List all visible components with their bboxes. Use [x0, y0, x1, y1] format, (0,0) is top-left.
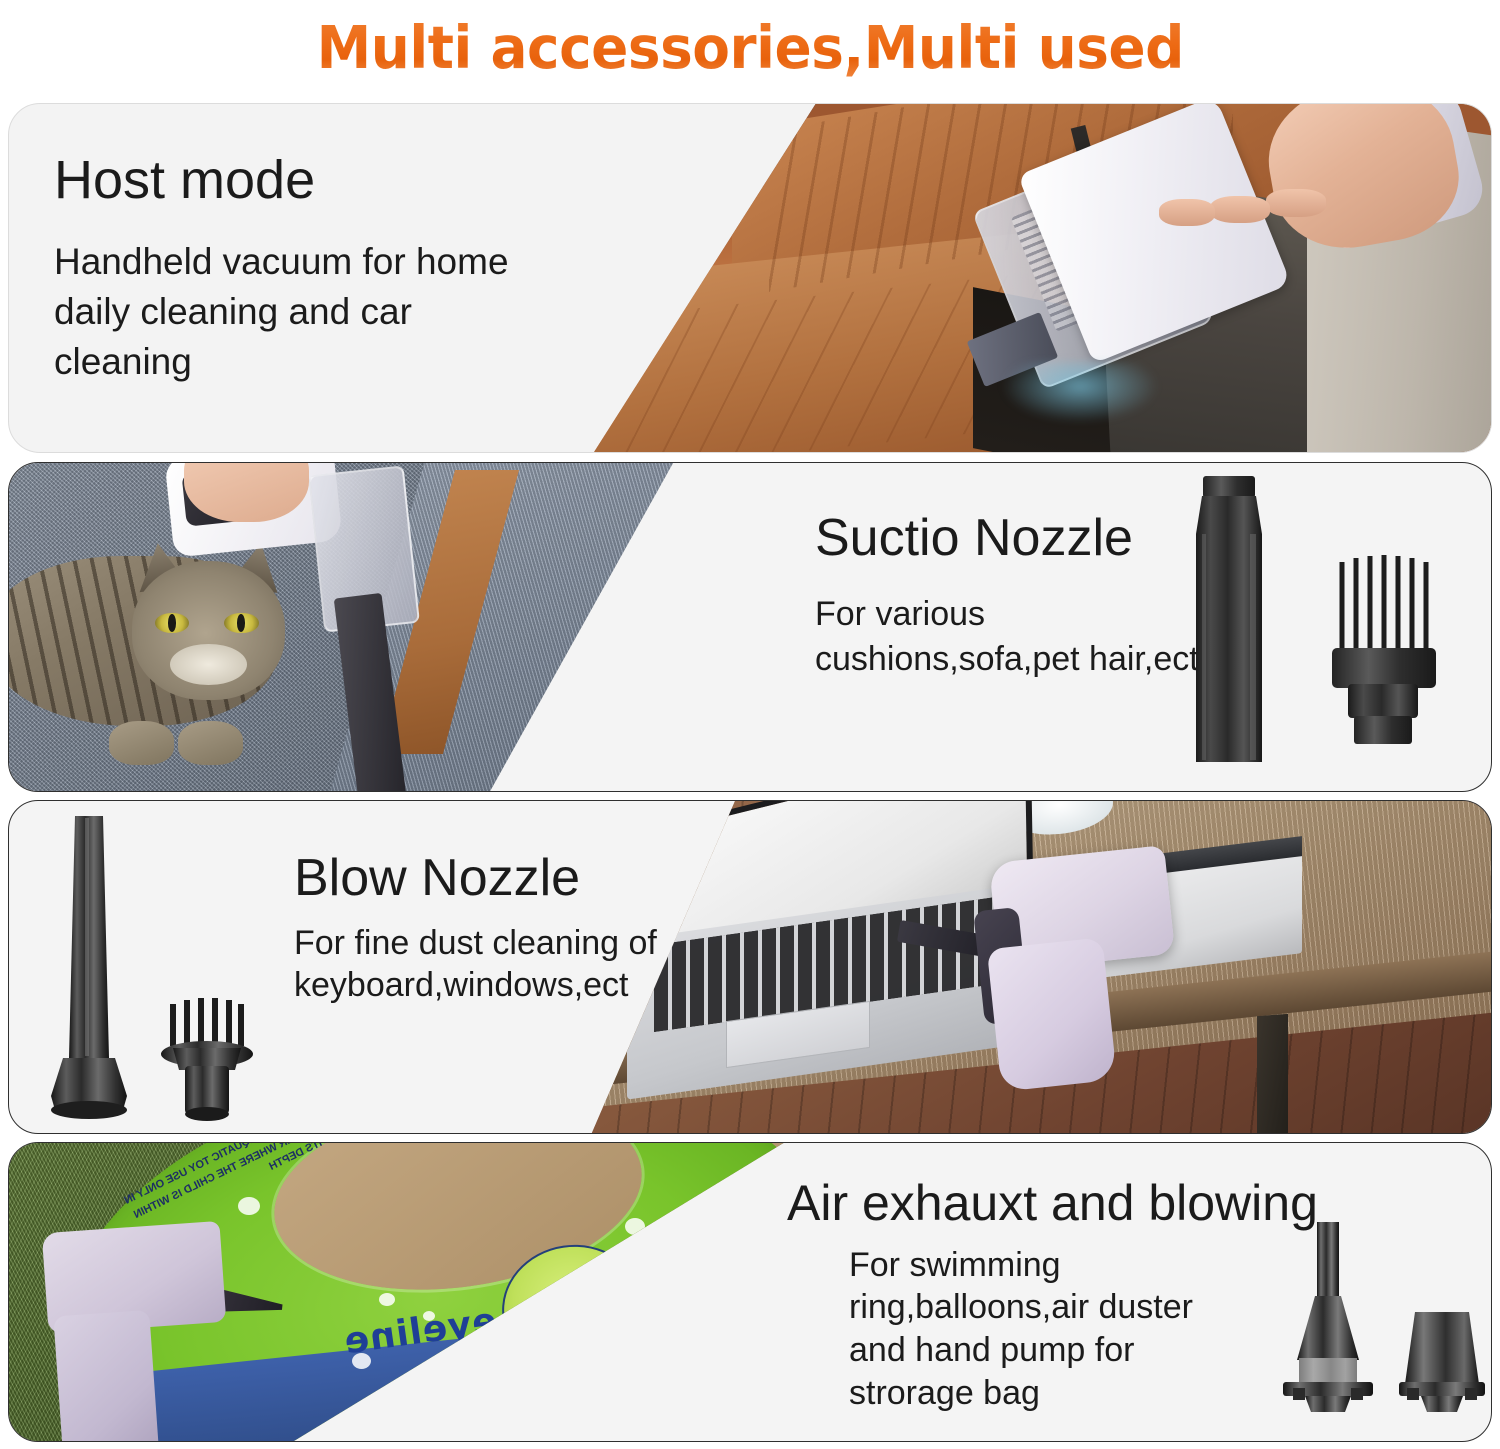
- photo-cat-couch-vacuum: [9, 463, 809, 792]
- handheld-vacuum-device: [969, 854, 1221, 1101]
- panel-body-text: For fine dust cleaning of keyboard,windo…: [294, 922, 714, 1008]
- text-block-blow-nozzle: Blow Nozzle For fine dust cleaning of ke…: [294, 851, 714, 1007]
- headline-banner: Multi accessories,Multi used: [0, 0, 1500, 95]
- handheld-vacuum-device: [1020, 104, 1484, 405]
- finger: [1266, 189, 1326, 217]
- accessory-group-suction: [1180, 470, 1470, 770]
- handheld-vacuum-device: [27, 1227, 256, 1442]
- panel-heading: Suctio Nozzle: [815, 511, 1235, 566]
- flat-crevice-nozzle-icon: [1196, 476, 1262, 762]
- finger: [1210, 196, 1270, 224]
- ring-bubble-dot: [379, 1293, 395, 1306]
- panel-heading: Blow Nozzle: [294, 851, 714, 906]
- text-block-suction-nozzle: Suctio Nozzle For various cushions,sofa,…: [815, 511, 1235, 683]
- ring-bubble-dot: [238, 1197, 260, 1215]
- dust-mist: [1001, 362, 1159, 424]
- ring-bubble-dot: [625, 1218, 645, 1235]
- finger: [1159, 199, 1215, 227]
- long-tube-nozzle-icon: [51, 816, 127, 1119]
- photo-laptop-table-vacuum: [591, 801, 1491, 1134]
- short-cone-adapter-icon: [1399, 1312, 1485, 1412]
- panel-body-text: Handheld vacuum for home daily cleaning …: [54, 237, 554, 388]
- panel-body-text: For various cushions,sofa,pet hair,ect: [815, 592, 1235, 683]
- photo-car-seat-vacuum: [565, 104, 1492, 453]
- cat-paw: [109, 721, 174, 765]
- table-leg: [1257, 1014, 1288, 1134]
- tall-funnel-inflation-nozzle-icon: [1283, 1222, 1373, 1412]
- panel-heading: Air exhauxt and blowing: [787, 1177, 1257, 1230]
- handheld-vacuum-device: [169, 463, 537, 773]
- accessory-group-blow: [45, 808, 275, 1126]
- human-hand: [1258, 104, 1469, 260]
- ring-bubble-dot: [695, 1299, 712, 1313]
- accessory-group-inflation: [1265, 1212, 1490, 1427]
- vacuum-handle: [987, 938, 1117, 1093]
- panel-heading: Host mode: [54, 152, 554, 209]
- comb-brush-nozzle-icon: [1332, 555, 1436, 744]
- infographic-root: Multi accessories,Multi used: [0, 0, 1500, 1449]
- page-title: Multi accessories,Multi used: [316, 18, 1183, 77]
- round-brush-nozzle-icon: [161, 998, 253, 1121]
- text-block-host-mode: Host mode Handheld vacuum for home daily…: [54, 152, 554, 388]
- photo-swimming-ring-inflating: eyeline WARNING AQUATIC TOY USE ONLY IN …: [9, 1143, 889, 1442]
- text-block-air-exhaust: Air exhauxt and blowing For swimming rin…: [787, 1177, 1257, 1415]
- accessory-illustrations: [1265, 1212, 1490, 1427]
- accessory-illustrations: [1180, 470, 1470, 770]
- accessory-illustrations: [45, 808, 275, 1126]
- panel-body-text: For swimming ring,balloons,air duster an…: [787, 1244, 1257, 1415]
- panel-host-mode: Host mode Handheld vacuum for home daily…: [8, 103, 1492, 453]
- vacuum-handle: [53, 1310, 160, 1442]
